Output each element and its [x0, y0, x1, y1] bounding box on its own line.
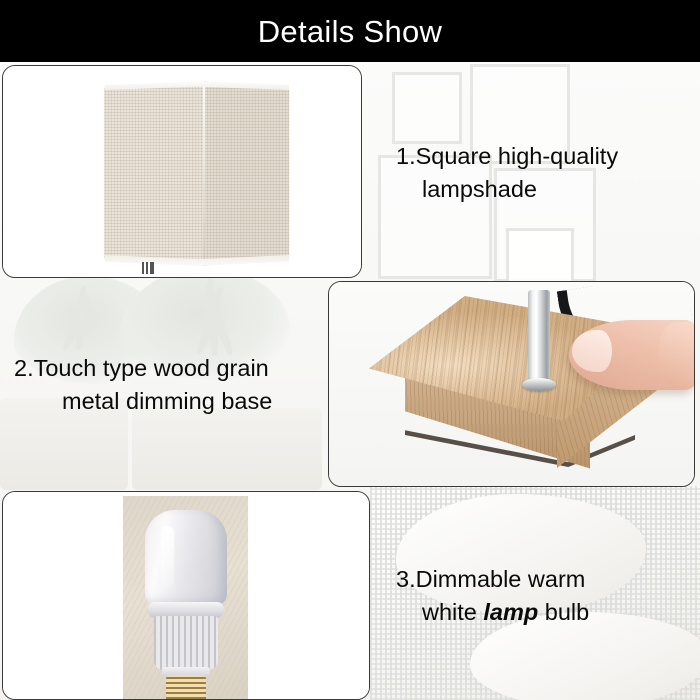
- finger-knuckle: [659, 322, 695, 388]
- lampshade-face-right: [204, 81, 290, 266]
- lampshade-photo: [3, 66, 361, 277]
- bulb-globe: [145, 510, 227, 606]
- detail-image-canvas: Details Show: [0, 0, 700, 700]
- chrome-pole: [528, 290, 550, 386]
- feature-caption-1: 1.Square high-quality lampshade: [396, 140, 692, 207]
- feature-caption-2-line1: 2.Touch type wood grain: [14, 352, 330, 385]
- background-picture-frame: [392, 72, 462, 144]
- bulb-highlight: [161, 526, 174, 588]
- page-title: Details Show: [258, 16, 443, 47]
- feature-caption-3-line1: 3.Dimmable warm: [396, 563, 692, 596]
- feature-caption-3-pre: white: [422, 599, 483, 625]
- pole-collar-icon: [522, 378, 556, 391]
- wood-base-photo: [329, 282, 694, 486]
- lampshade-illustration: [99, 81, 289, 266]
- bulb-illustration: [145, 510, 227, 695]
- feature-caption-3-line2: white lamp bulb: [396, 596, 692, 629]
- background-sofa: [132, 408, 322, 490]
- bulb-photo: [123, 496, 248, 699]
- feature-caption-1-line2: lampshade: [396, 173, 692, 206]
- feature-photo-card-bulb: [2, 491, 370, 700]
- feature-photo-card-lampshade: [2, 65, 362, 278]
- feature-caption-3: 3.Dimmable warm white lamp bulb: [396, 563, 692, 630]
- feature-caption-2: 2.Touch type wood grain metal dimming ba…: [14, 352, 330, 419]
- bulb-screw-base: [166, 675, 206, 699]
- bulb-ribbed-body: [154, 616, 218, 670]
- lampshade-corner-edge: [203, 83, 205, 264]
- feature-caption-2-line2: metal dimming base: [14, 385, 330, 418]
- bulb-photo-frame: [3, 492, 369, 699]
- feature-caption-3-emphasis: lamp: [483, 599, 538, 625]
- header-bar: Details Show: [0, 0, 700, 62]
- feature-photo-card-wood-base: [328, 281, 695, 487]
- fingernail: [572, 330, 612, 372]
- feature-caption-1-line1: 1.Square high-quality: [396, 140, 692, 173]
- feature-caption-3-post: bulb: [538, 599, 589, 625]
- lampshade-harp-neck: [142, 262, 154, 274]
- lampshade-face-left: [102, 81, 206, 266]
- background-picture-frame: [506, 228, 574, 286]
